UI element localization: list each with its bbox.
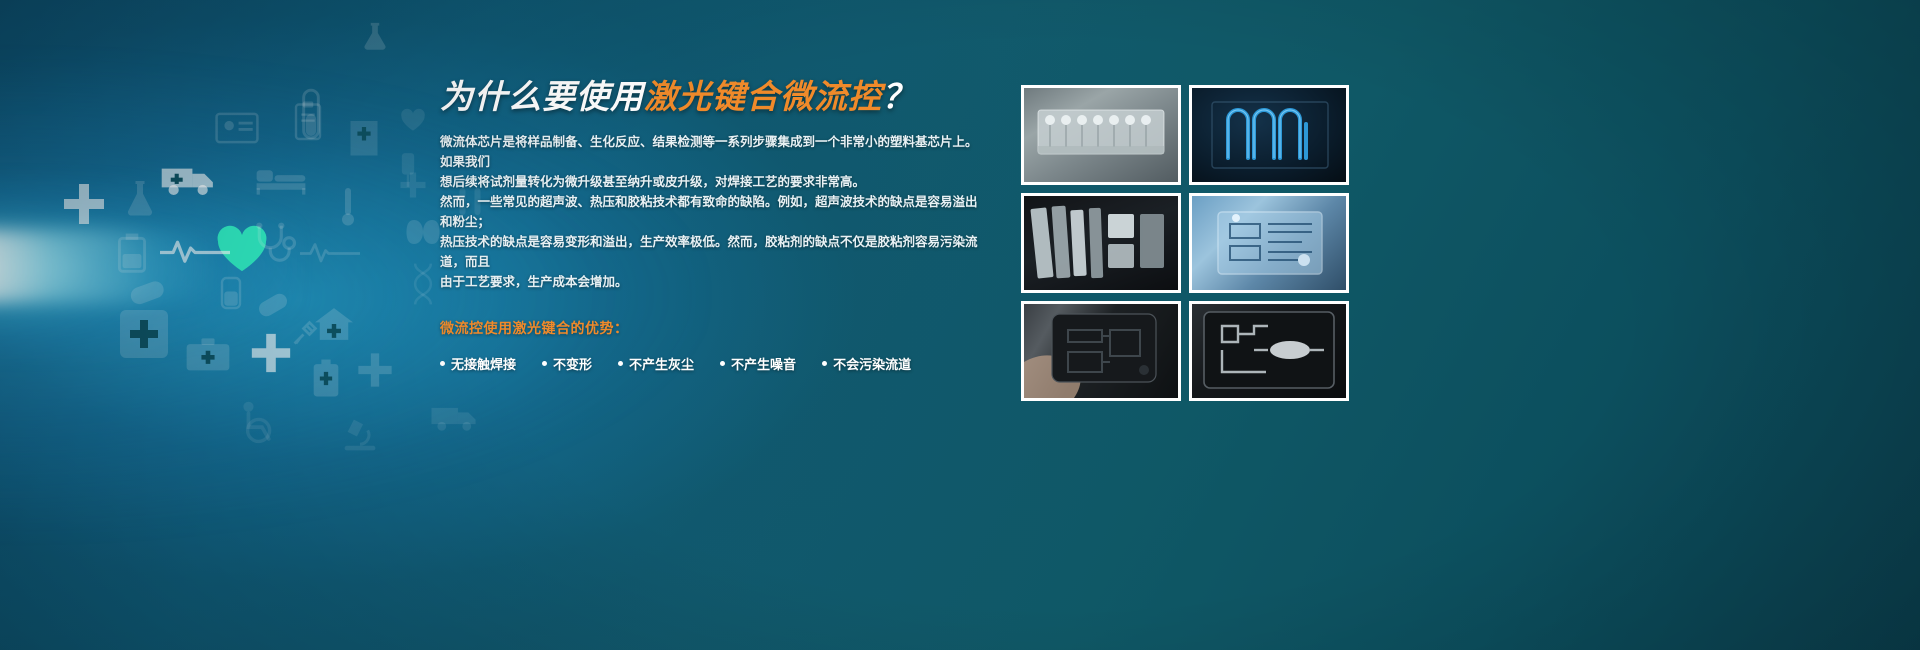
paragraph-line: 然而，一些常见的超声波、热压和胶粘技术都有致命的缺陷。例如，超声波技术的缺点是容…	[440, 192, 980, 232]
hospital-icon	[347, 115, 381, 157]
plus-cross-icon	[248, 330, 294, 376]
headline-lead: 为什么要使用	[440, 78, 644, 115]
flask-solid-icon	[122, 178, 158, 220]
iv-drip-icon	[395, 150, 421, 190]
gallery-item-microfluidic-chip-array-strip[interactable]	[1021, 85, 1181, 185]
thermometer-icon	[338, 185, 358, 227]
house-medical-icon	[313, 305, 355, 343]
lab-beaker-icon	[113, 232, 151, 276]
medical-cross-icon	[118, 308, 170, 360]
heart-icon	[215, 225, 269, 273]
paragraph-line: 热压技术的缺点是容易变形和溢出，生产效率极低。然而，胶粘剂的缺点不仅是胶粘剂容易…	[440, 232, 980, 272]
syringe-icon	[290, 318, 320, 348]
advantage-label: 无接触焊接	[451, 354, 516, 373]
headline-tail: ？	[882, 78, 916, 115]
photo-microfluidic-chip-collection-tray	[1024, 196, 1178, 290]
stethoscope-icon	[253, 222, 297, 264]
first-aid-kit-icon	[185, 335, 231, 373]
heartbeat-line-icon	[300, 240, 360, 264]
ambulance-icon	[430, 400, 480, 432]
page-title: 为什么要使用激光键合微流控？	[440, 78, 980, 116]
paragraph-line: 想后续将试剂量转化为微升级甚至纳升或皮升级，对焊接工艺的要求非常高。	[440, 172, 980, 192]
bullet-dot-icon	[440, 361, 445, 366]
pill-icon	[255, 290, 291, 320]
advantages-subheading: 微流控使用激光键合的优势：	[440, 318, 980, 338]
heartbeat-icon	[160, 238, 230, 264]
hospital-bed-icon	[255, 165, 307, 195]
paragraph-line: 微流体芯片是将样品制备、生化反应、结果检测等一系列步骤集成到一个非常小的塑料基芯…	[440, 132, 980, 172]
photo-black-microfluidic-cartridge-closeup	[1192, 304, 1346, 398]
list-item: 不变形	[542, 354, 592, 373]
list-item: 不产生灰尘	[618, 354, 694, 373]
gallery-item-microfluidic-chip-collection-tray[interactable]	[1021, 193, 1181, 293]
product-gallery	[1021, 85, 1349, 401]
photo-microfluidic-chip-array-strip	[1024, 88, 1178, 182]
gallery-item-black-polymer-microfluidic-device-in-hand[interactable]	[1021, 301, 1181, 401]
plus-cross-icon	[60, 180, 108, 228]
capsule-icon	[127, 275, 167, 309]
test-tube-icon	[300, 88, 322, 140]
photo-transparent-microfluidic-cartridge	[1192, 196, 1346, 290]
paragraph-line: 由于工艺要求，生产成本会增加。	[440, 272, 980, 292]
gallery-item-transparent-microfluidic-cartridge[interactable]	[1189, 193, 1349, 293]
left-glow-beam	[0, 230, 220, 302]
banner-text-column: 为什么要使用激光键合微流控？ 微流体芯片是将样品制备、生化反应、结果检测等一系列…	[440, 78, 980, 373]
dna-icon	[412, 262, 434, 306]
left-glow-core	[0, 175, 300, 360]
microscope-icon	[340, 415, 380, 455]
list-item: 不产生噪音	[720, 354, 796, 373]
bullet-dot-icon	[618, 361, 623, 366]
battery-icon	[310, 358, 342, 398]
photo-microfluidic-serpentine-channel-chip	[1192, 88, 1346, 182]
bullet-dot-icon	[822, 361, 827, 366]
heart-icon	[400, 108, 426, 132]
photo-black-polymer-microfluidic-device-in-hand	[1024, 304, 1178, 398]
body-paragraph: 微流体芯片是将样品制备、生化反应、结果检测等一系列步骤集成到一个非常小的塑料基芯…	[440, 132, 980, 292]
bullet-dot-icon	[542, 361, 547, 366]
bullet-dot-icon	[720, 361, 725, 366]
advantage-label: 不产生噪音	[731, 354, 796, 373]
kidney-icon	[405, 215, 441, 255]
advantages-list: 无接触焊接 不变形 不产生灰尘 不产生噪音 不会污染流道	[440, 354, 980, 373]
ambulance-icon	[160, 160, 218, 196]
gallery-item-black-microfluidic-cartridge-closeup[interactable]	[1189, 301, 1349, 401]
gallery-item-microfluidic-serpentine-channel-chip[interactable]	[1189, 85, 1349, 185]
banner-root: 为什么要使用激光键合微流控？ 微流体芯片是将样品制备、生化反应、结果检测等一系列…	[0, 0, 1920, 650]
advantage-label: 不会污染流道	[833, 354, 911, 373]
blood-bag-icon	[218, 275, 244, 311]
list-item: 不会污染流道	[822, 354, 911, 373]
clipboard-icon	[293, 100, 323, 142]
flask-icon	[358, 18, 392, 56]
list-item: 无接触焊接	[440, 354, 516, 373]
medical-cross-icon	[355, 350, 395, 390]
wheelchair-icon	[240, 400, 284, 444]
advantage-label: 不产生灰尘	[629, 354, 694, 373]
advantage-label: 不变形	[553, 354, 592, 373]
id-card-icon	[215, 112, 259, 144]
headline-accent: 激光键合微流控	[644, 78, 882, 115]
plus-cross-icon	[398, 170, 428, 200]
